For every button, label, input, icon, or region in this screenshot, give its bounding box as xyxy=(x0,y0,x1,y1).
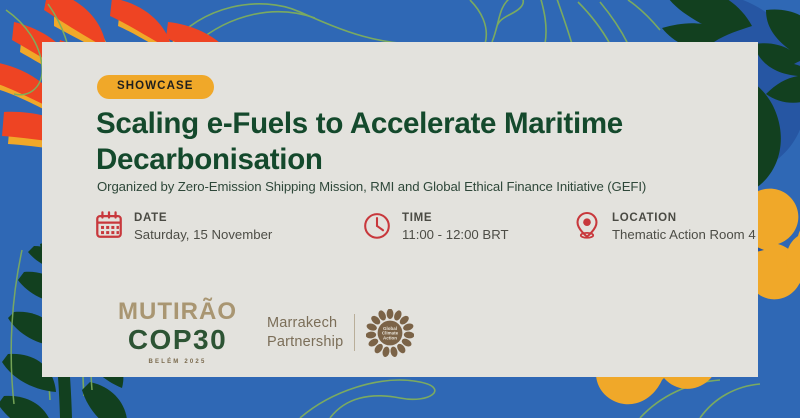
cop30-mutirao-text: MUTIRÃO xyxy=(118,300,237,324)
cop30-belem-text: BELÉM 2025 xyxy=(148,359,206,365)
calendar-icon xyxy=(94,208,124,242)
showcase-badge: SHOWCASE xyxy=(97,75,214,99)
event-details-row: DATE Saturday, 15 November TIME 11:00 - … xyxy=(94,208,744,264)
cop30-logo: MUTIRÃO COP30 BELÉM 2025 xyxy=(118,300,237,365)
detail-date: DATE Saturday, 15 November xyxy=(94,208,272,245)
page-title: Scaling e-Fuels to Accelerate Maritime D… xyxy=(96,106,716,177)
marrakech-line-2: Partnership xyxy=(267,333,343,352)
content-card: SHOWCASE Scaling e-Fuels to Accelerate M… xyxy=(42,42,758,377)
detail-location-text: LOCATION Thematic Action Room 4 xyxy=(612,208,756,245)
detail-time: TIME 11:00 - 12:00 BRT xyxy=(362,208,509,245)
title-line-2: Decarbonisation xyxy=(96,143,323,176)
title-line-1: Scaling e-Fuels to Accelerate Maritime xyxy=(96,107,623,140)
logo-strip: MUTIRÃO COP30 BELÉM 2025 Marrakech Partn… xyxy=(118,300,414,365)
detail-time-label: TIME xyxy=(402,211,509,225)
cop30-text: COP30 xyxy=(128,326,227,354)
marrakech-partnership-text: Marrakech Partnership xyxy=(267,314,355,351)
detail-time-text: TIME 11:00 - 12:00 BRT xyxy=(402,208,509,245)
location-pin-icon xyxy=(572,208,602,242)
organizer-text: Organized by Zero-Emission Shipping Miss… xyxy=(97,178,646,195)
event-poster: SHOWCASE Scaling e-Fuels to Accelerate M… xyxy=(0,0,800,418)
marrakech-line-1: Marrakech xyxy=(267,314,343,333)
detail-date-text: DATE Saturday, 15 November xyxy=(134,208,272,245)
emblem-line-3: Action xyxy=(383,335,397,340)
detail-location-value: Thematic Action Room 4 xyxy=(612,225,756,244)
global-climate-action-emblem: Global Climate Action xyxy=(366,309,414,357)
detail-date-value: Saturday, 15 November xyxy=(134,225,272,244)
detail-location: LOCATION Thematic Action Room 4 xyxy=(572,208,756,245)
marrakech-partnership-logo: Marrakech Partnership xyxy=(267,309,414,357)
detail-date-label: DATE xyxy=(134,211,272,225)
clock-icon xyxy=(362,208,392,242)
detail-location-label: LOCATION xyxy=(612,211,756,225)
detail-time-value: 11:00 - 12:00 BRT xyxy=(402,225,509,244)
